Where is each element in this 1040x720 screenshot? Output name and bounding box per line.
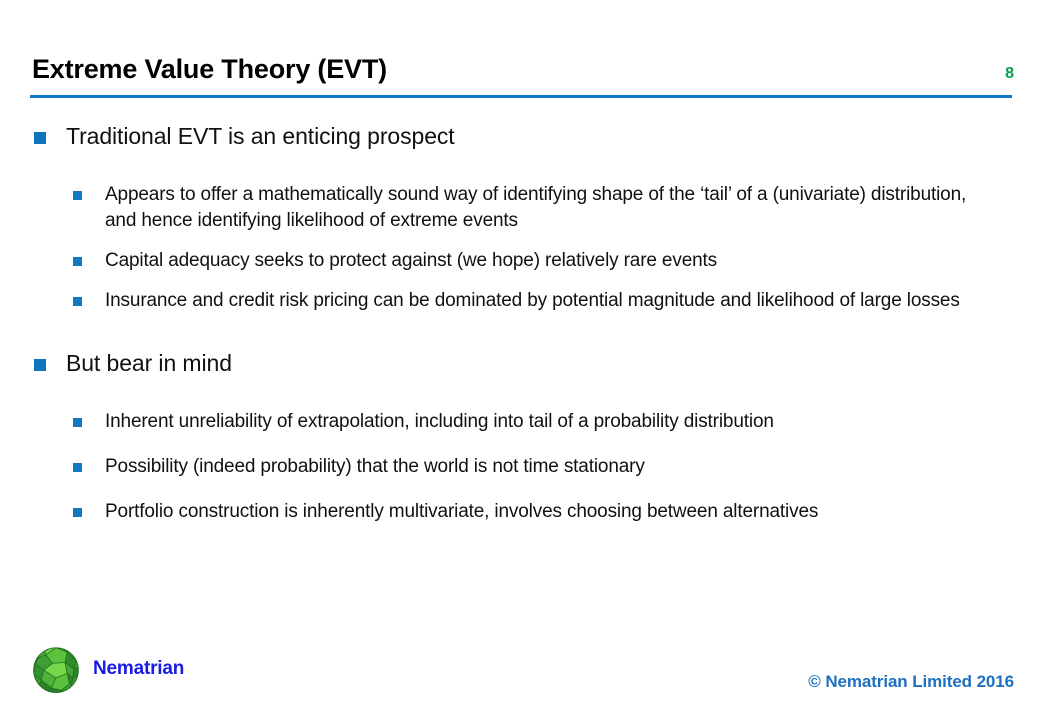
page-title: Extreme Value Theory (EVT)	[32, 52, 387, 86]
spacer	[0, 480, 1040, 499]
copyright-notice: © Nematrian Limited 2016	[808, 672, 1014, 692]
slide-footer: Nematrian © Nematrian Limited 2016	[0, 622, 1040, 720]
bullet-square-icon	[73, 418, 82, 427]
bullet-square-icon	[73, 297, 82, 306]
spacer	[0, 379, 1040, 409]
polyhedron-sphere-icon	[28, 640, 84, 698]
page-number: 8	[1005, 64, 1014, 84]
spacer	[0, 102, 1040, 121]
bullet-level2: Portfolio construction is inherently mul…	[0, 499, 1040, 525]
brand-wordmark: Nematrian	[93, 658, 184, 680]
spacer	[0, 234, 1040, 248]
bullet-level2-label: Insurance and credit risk pricing can be…	[105, 288, 992, 314]
bullet-level1: But bear in mind	[0, 348, 1040, 379]
bullet-level2-label: Possibility (indeed probability) that th…	[105, 454, 992, 480]
bullet-square-icon	[73, 463, 82, 472]
bullet-square-icon	[34, 132, 46, 144]
bullet-level2-label: Capital adequacy seeks to protect agains…	[105, 248, 992, 274]
bullet-square-icon	[73, 257, 82, 266]
spacer	[0, 274, 1040, 288]
bullet-level2: Possibility (indeed probability) that th…	[0, 454, 1040, 480]
spacer	[0, 152, 1040, 182]
bullet-square-icon	[73, 191, 82, 200]
bullet-level1: Traditional EVT is an enticing prospect	[0, 121, 1040, 152]
brand-lockup[interactable]: Nematrian	[28, 640, 184, 698]
bullet-level2-label: Inherent unreliability of extrapolation,…	[105, 409, 992, 435]
slide-content: Traditional EVT is an enticing prospect …	[0, 102, 1040, 622]
bullet-level1-label: Traditional EVT is an enticing prospect	[66, 121, 1040, 152]
bullet-level1-label: But bear in mind	[66, 348, 1040, 379]
bullet-square-icon	[34, 359, 46, 371]
bullet-level2-label: Portfolio construction is inherently mul…	[105, 499, 992, 525]
bullet-level2: Insurance and credit risk pricing can be…	[0, 288, 1040, 314]
bullet-level2-label: Appears to offer a mathematically sound …	[105, 182, 992, 234]
bullet-level2: Inherent unreliability of extrapolation,…	[0, 409, 1040, 435]
spacer	[0, 435, 1040, 454]
bullet-level2: Appears to offer a mathematically sound …	[0, 182, 1040, 234]
bullet-square-icon	[73, 508, 82, 517]
bullet-level2: Capital adequacy seeks to protect agains…	[0, 248, 1040, 274]
slide-header: Extreme Value Theory (EVT) 8	[0, 0, 1040, 102]
title-divider-rule	[30, 95, 1012, 98]
spacer	[0, 314, 1040, 348]
